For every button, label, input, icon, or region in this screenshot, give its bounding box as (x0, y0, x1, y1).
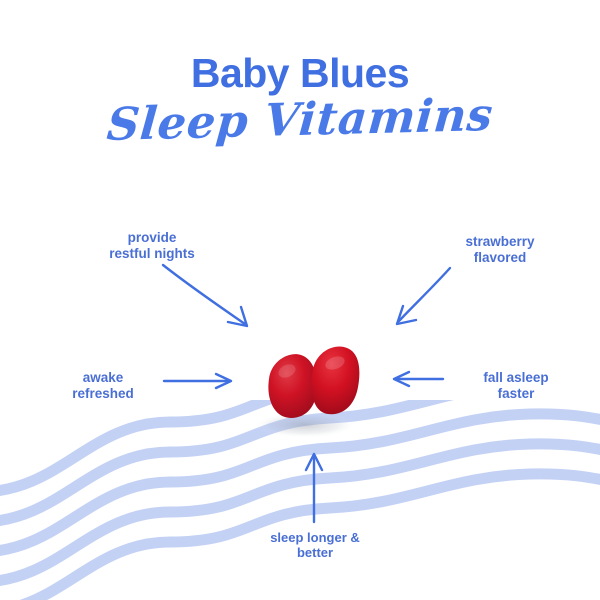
arrow-awake (164, 374, 231, 388)
arrow-restful-nights (163, 265, 247, 326)
callout-fall-asleep-faster: fall asleep faster (456, 370, 576, 402)
gummy-shadow (253, 412, 357, 438)
gummy-left (268, 354, 317, 418)
gummy-product-image (243, 333, 373, 438)
title-block: Baby Blues Sleep Vitamins (0, 52, 600, 142)
callout-strawberry-flavored: strawberry flavored (420, 234, 580, 266)
page-subtitle: Sleep Vitamins (0, 89, 600, 150)
callout-awake-refreshed: awake refreshed (48, 370, 158, 402)
poster-canvas: Baby Blues Sleep Vitamins (0, 0, 600, 600)
callout-sleep-longer-better: sleep longer & better (240, 530, 390, 561)
page-title: Baby Blues (0, 52, 600, 95)
arrow-strawberry (397, 268, 450, 324)
arrow-fall-asleep (394, 372, 443, 386)
callout-provide-restful-nights: provide restful nights (62, 230, 242, 262)
